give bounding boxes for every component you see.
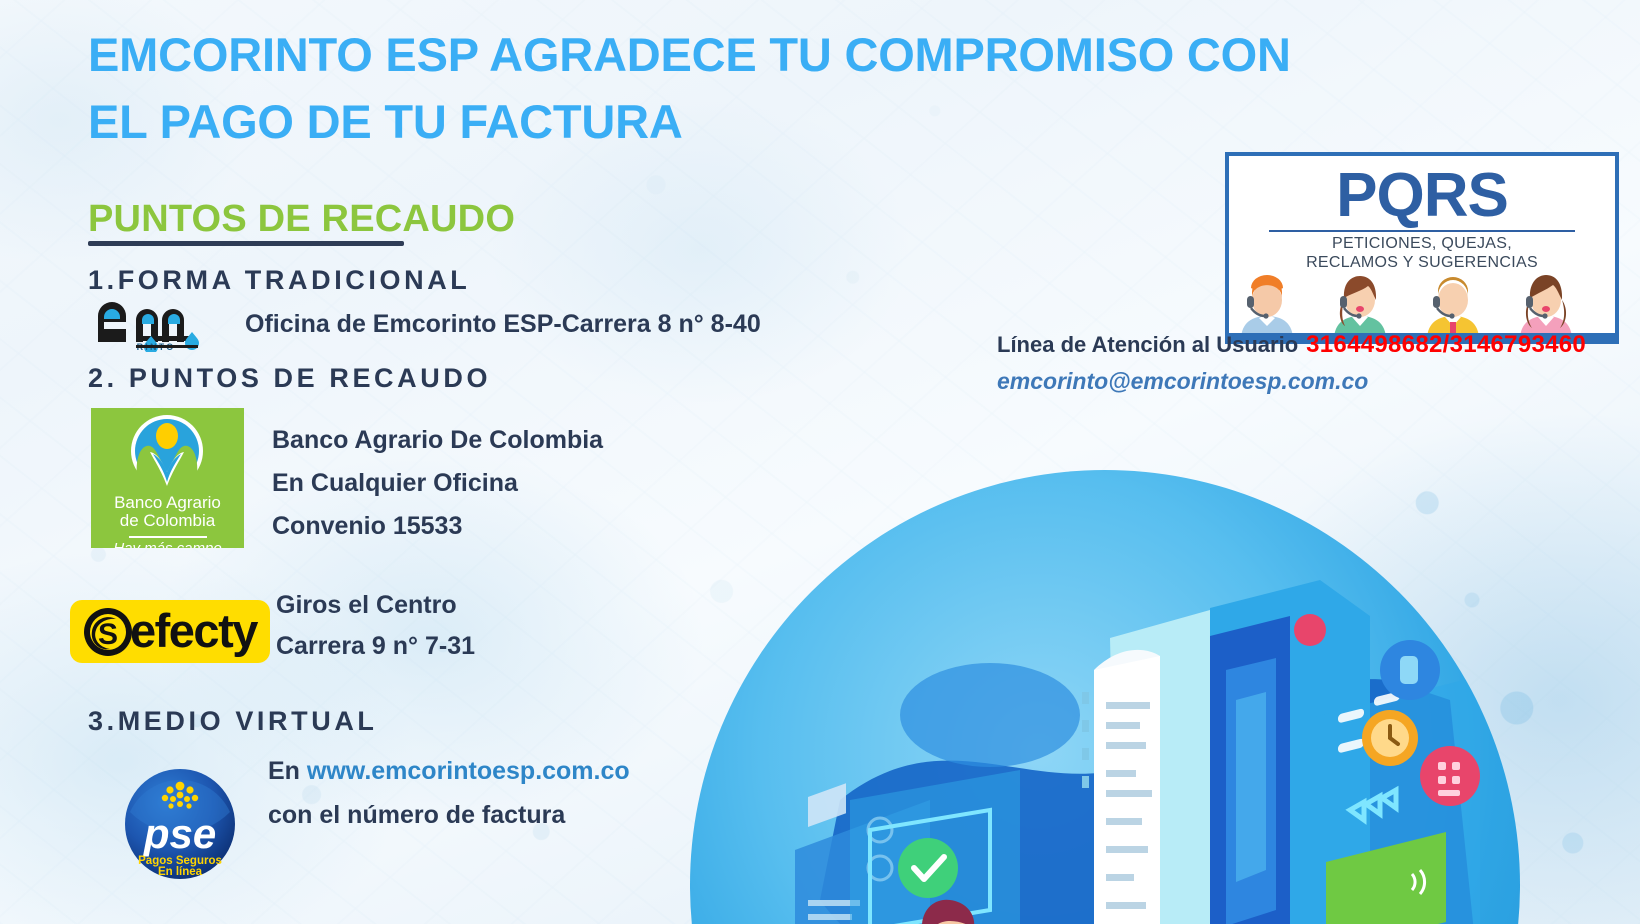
pqrs-acronym: PQRS [1229,160,1615,231]
svg-text:S: S [98,618,118,651]
traditional-office-text: Oficina de Emcorinto ESP-Carrera 8 n° 8-… [245,310,761,339]
virtual-url-line: En www.emcorintoesp.com.co [268,757,630,786]
efecty-coin-icon: S [82,606,134,658]
pse-logo: pse Pagos Seguros En línea [124,768,236,880]
banco-agrario-logo-line1: Banco Agrario [91,494,244,512]
contact-email[interactable]: emcorinto@emcorintoesp.com.co [997,368,1368,395]
efecty-line1: Giros el Centro [276,591,457,620]
pqrs-subtitle: PETICIONES, QUEJAS, RECLAMOS Y SUGERENCI… [1229,234,1615,272]
attention-line: Línea de Atención al Usuario3164498682/3… [997,331,1586,359]
banco-agrario-logo-text: Banco Agrario de Colombia [91,494,244,531]
section-heading-rule [88,241,404,246]
banco-agrario-emblem [119,414,216,496]
banco-agrario-line1: Banco Agrario De Colombia [272,426,603,455]
step-1-label: 1.FORMA TRADICIONAL [88,265,470,296]
page-title-line1: EMCORINTO ESP AGRADECE TU COMPROMISO CON [88,28,1291,81]
attention-label: Línea de Atención al Usuario [997,332,1298,357]
banco-agrario-logo-slogan: Hay más campo para todos [91,541,244,548]
banco-agrario-logo: Banco Agrario de Colombia Hay más campo … [91,408,244,548]
virtual-url-prefix: En [268,757,307,785]
page-title: EMCORINTO ESP AGRADECE TU COMPROMISO CON… [88,22,1418,155]
virtual-url-link[interactable]: www.emcorintoesp.com.co [307,757,630,785]
pse-logo-word: pse [143,810,216,857]
emcorinto-logo: RINTO [92,296,232,352]
pqrs-subtitle-line2: RECLAMOS Y SUGERENCIAS [1229,253,1615,272]
efecty-line2: Carrera 9 n° 7-31 [276,632,475,661]
page-title-line2: EL PAGO DE TU FACTURA [88,89,1418,156]
efecty-logo-word: efecty [130,603,257,658]
section-heading: PUNTOS DE RECAUDO [88,198,515,241]
step-2-label: 2. PUNTOS DE RECAUDO [88,363,491,394]
online-payment-illustration: $ $ $ [690,470,1520,924]
banco-agrario-line2: En Cualquier Oficina [272,469,518,498]
banco-agrario-logo-divider [129,536,207,538]
pqrs-panel: PQRS PETICIONES, QUEJAS, RECLAMOS Y SUGE… [1225,152,1619,344]
virtual-line2: con el número de factura [268,801,565,830]
banco-agrario-line3: Convenio 15533 [272,512,462,541]
efecty-logo: S efecty [70,600,270,663]
pqrs-subtitle-line1: PETICIONES, QUEJAS, [1229,234,1615,253]
pse-logo-sub2: En línea [158,866,203,878]
attention-phones: 3164498682/3146793460 [1306,331,1586,358]
poster-canvas: EMCORINTO ESP AGRADECE TU COMPROMISO CON… [0,0,1640,924]
banco-agrario-logo-line2: de Colombia [91,512,244,530]
step-3-label: 3.MEDIO VIRTUAL [88,706,378,737]
banco-agrario-slogan-line1: Hay más campo [91,541,244,548]
pqrs-divider [1269,230,1575,232]
